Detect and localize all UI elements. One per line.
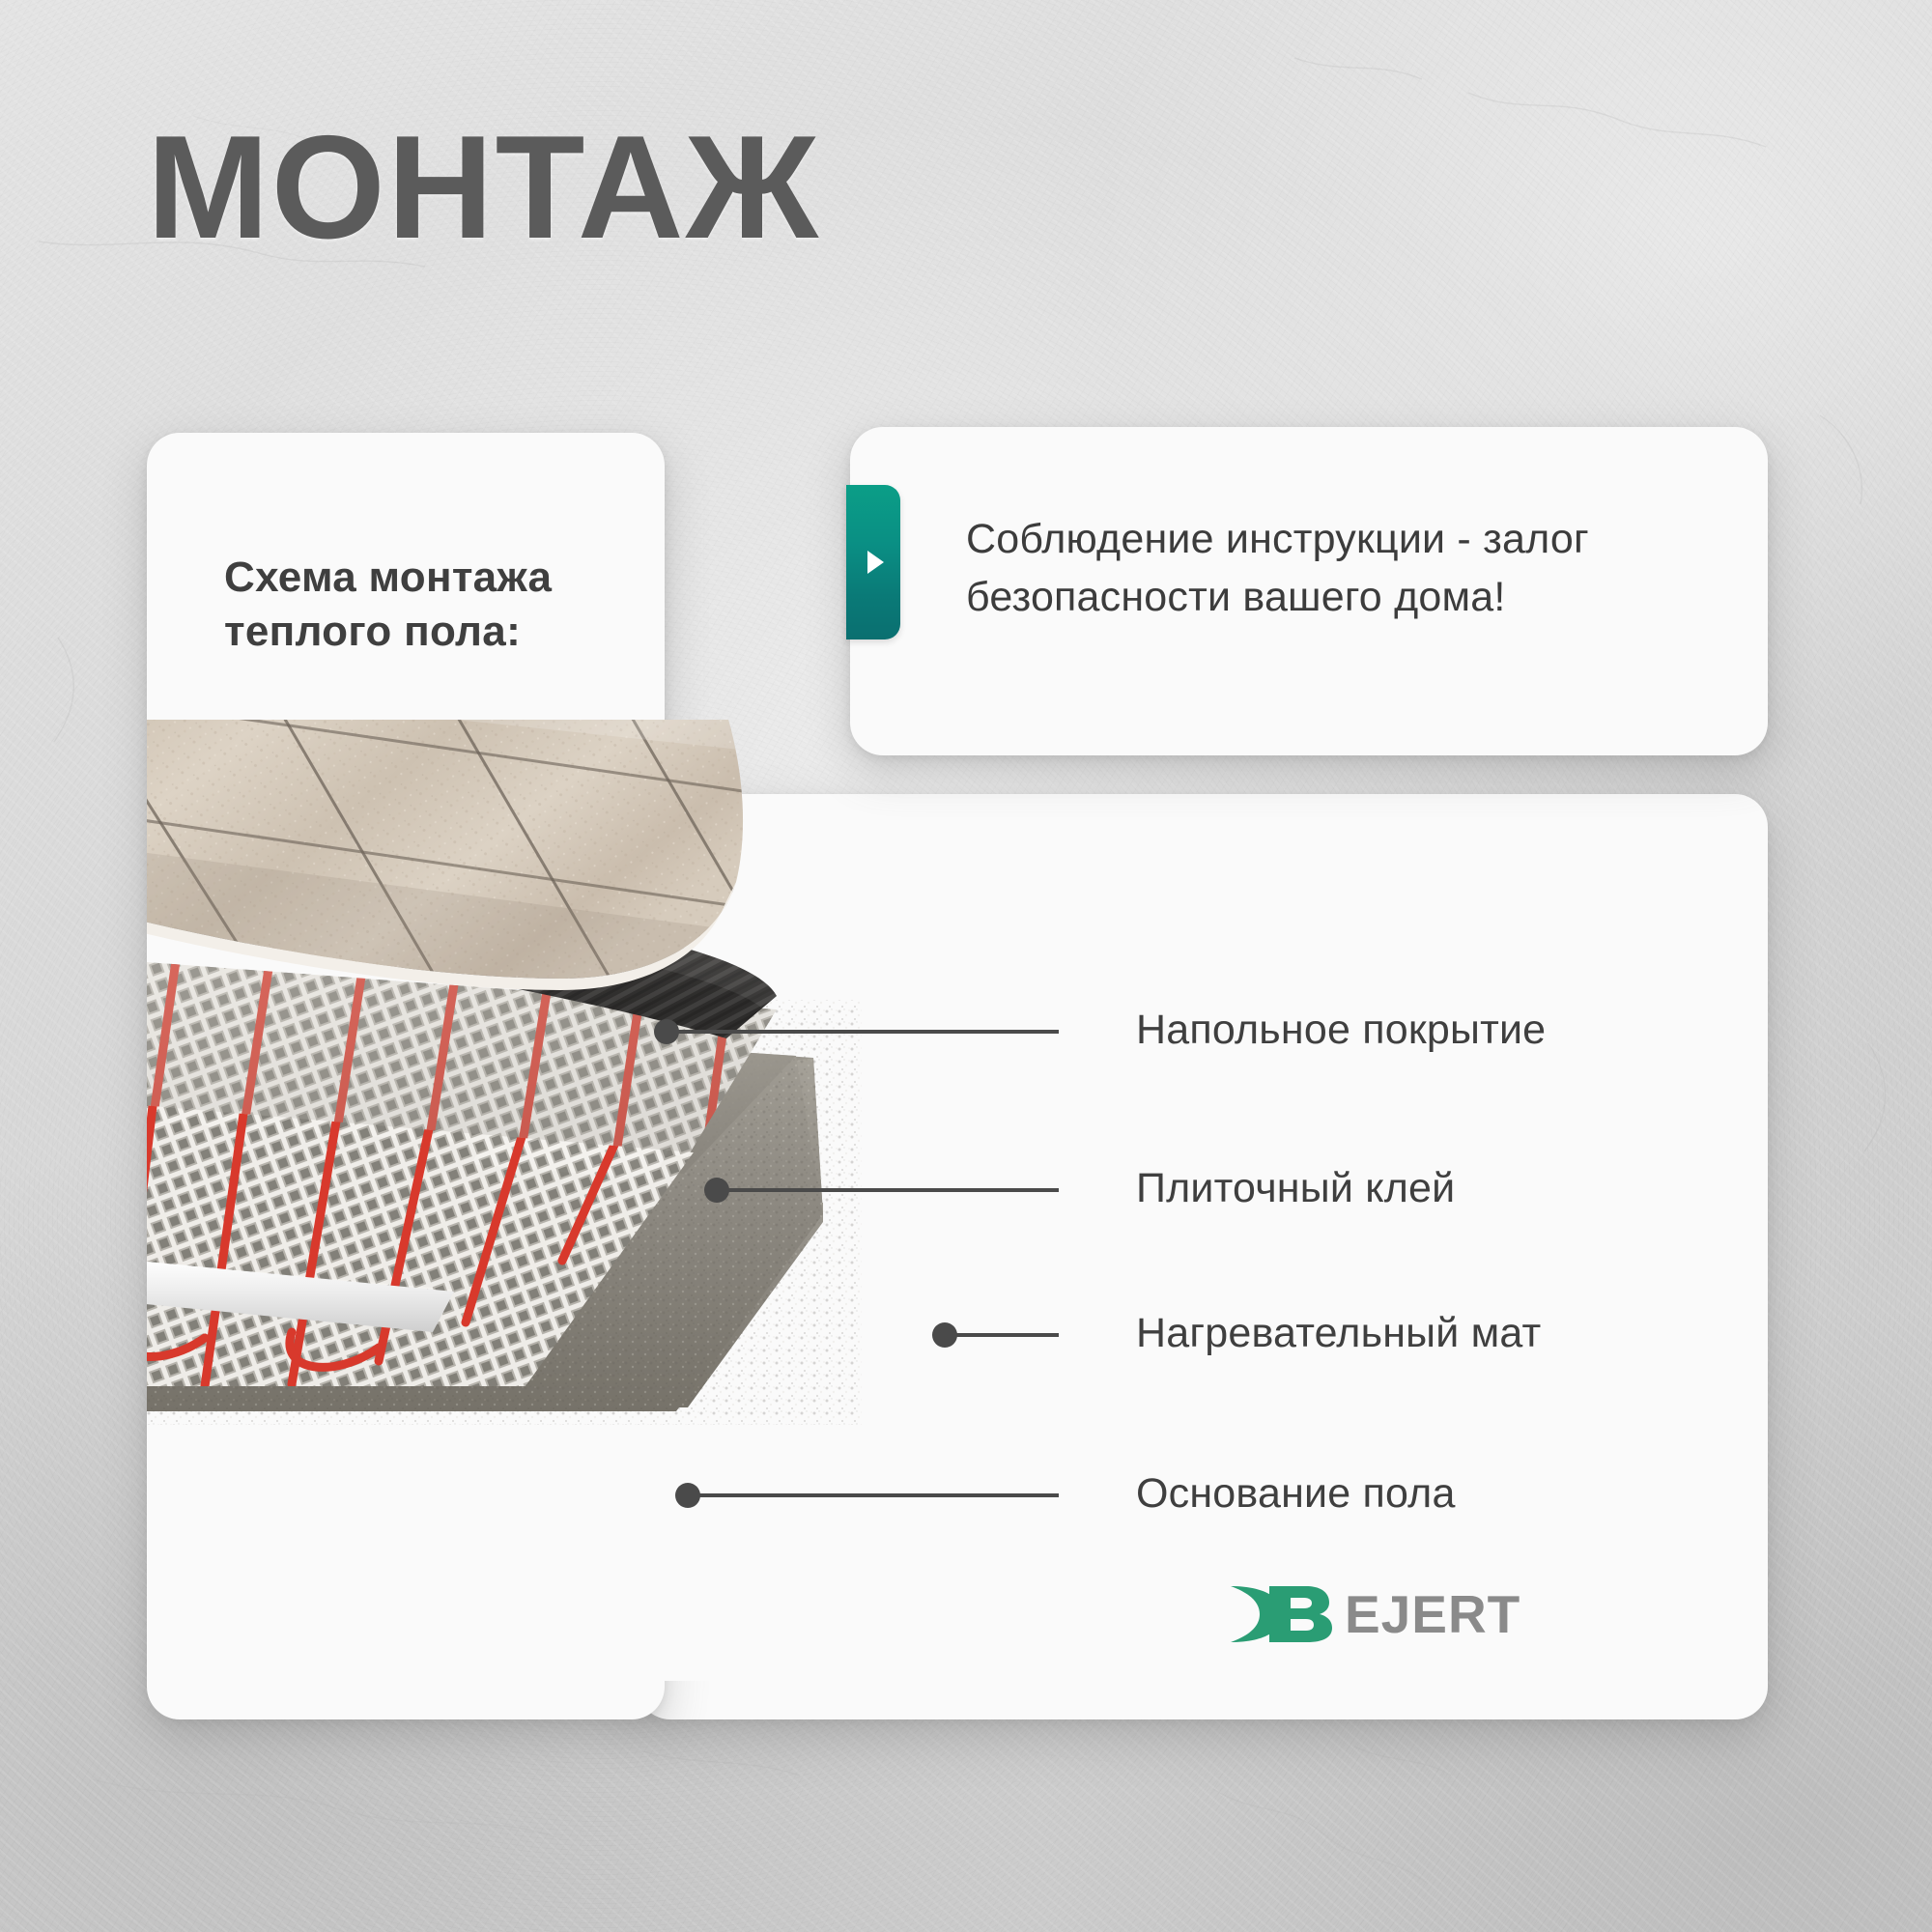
layer-label-tile-adhesive: Плиточный клей xyxy=(1136,1165,1455,1212)
bejert-mark-icon xyxy=(1225,1582,1349,1646)
layer-label-floor-covering: Напольное покрытие xyxy=(1136,1007,1546,1054)
safety-note-text: Соблюдение инструкции - залог безопаснос… xyxy=(966,510,1700,626)
page-title: МОНТАЖ xyxy=(147,114,820,261)
play-triangle-icon xyxy=(867,551,884,574)
floor-layers-illustration xyxy=(147,720,1113,1719)
layer-label-heating-mat: Нагревательный мат xyxy=(1136,1310,1541,1357)
bejert-logo: EJERT xyxy=(1225,1582,1520,1646)
bejert-logo-text: EJERT xyxy=(1345,1583,1520,1645)
scheme-card-heading: Схема монтажа теплого пола: xyxy=(224,551,649,660)
scheme-heading-line-1: Схема монтажа xyxy=(224,551,649,605)
scheme-heading-line-2: теплого пола: xyxy=(224,605,649,659)
safety-note-accent-tab xyxy=(846,485,900,639)
layer-label-floor-base: Основание пола xyxy=(1136,1470,1456,1518)
